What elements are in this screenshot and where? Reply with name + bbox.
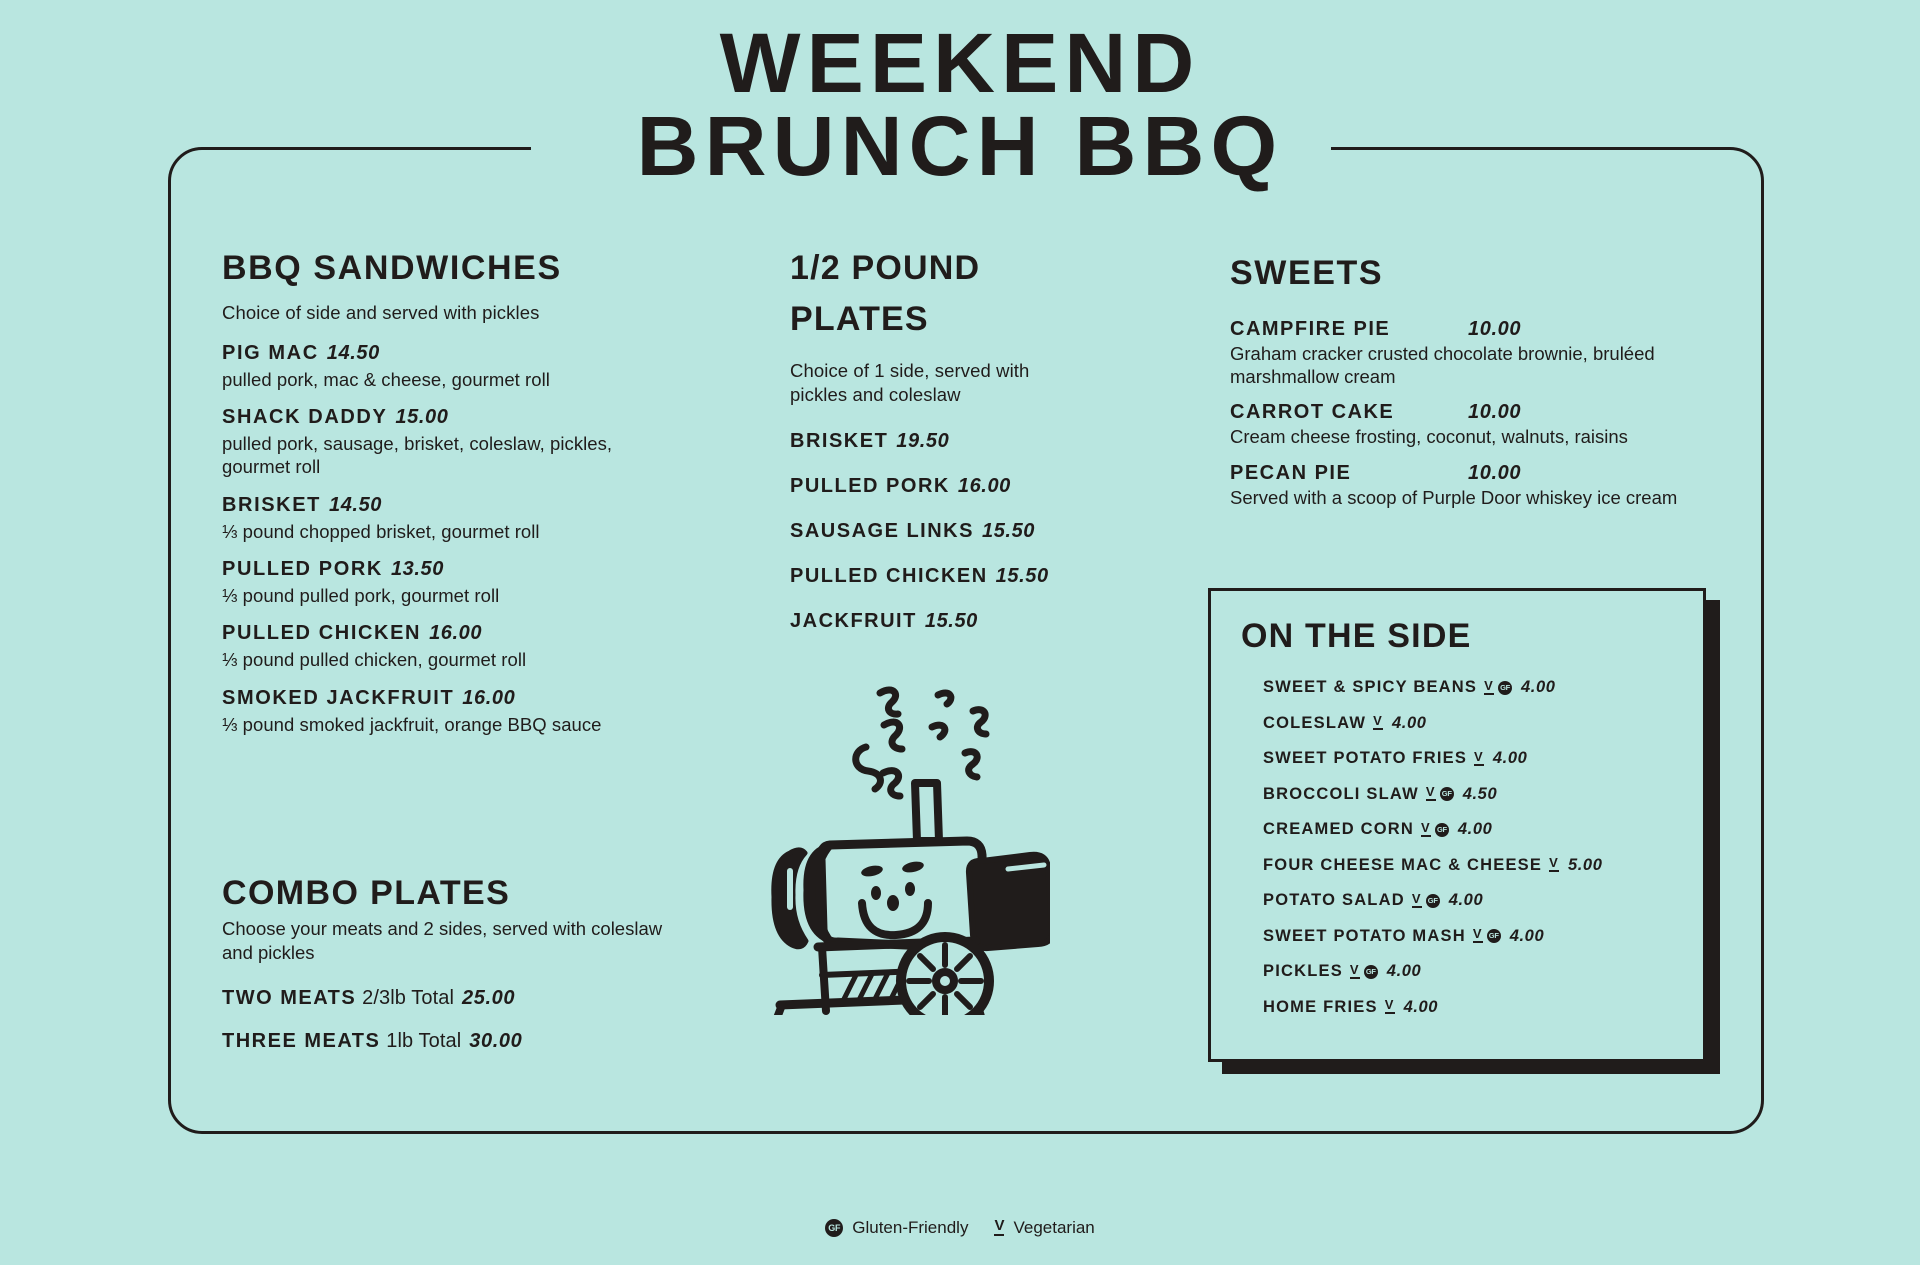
menu-item-name: PULLED PORK13.50 bbox=[222, 557, 682, 582]
menu-item: PULLED PORK13.50⅓ pound pulled pork, gou… bbox=[222, 557, 682, 607]
side-item-price: 4.00 bbox=[1449, 891, 1484, 910]
side-item-name: FOUR CHEESE MAC & CHEESE bbox=[1263, 856, 1542, 875]
side-item: FOUR CHEESE MAC & CHEESEV5.00 bbox=[1263, 856, 1703, 875]
side-item-name: BROCCOLI SLAW bbox=[1263, 785, 1419, 804]
chimney bbox=[915, 783, 939, 841]
sweets-heading: SWEETS bbox=[1230, 255, 1750, 292]
menu-item-name: SMOKED JACKFRUIT16.00 bbox=[222, 686, 682, 711]
sides-heading: ON THE SIDE bbox=[1241, 617, 1703, 656]
side-item: SWEET POTATO MASHVGF4.00 bbox=[1263, 927, 1703, 946]
legend-vegetarian: V Vegetarian bbox=[994, 1218, 1094, 1238]
sweets-list: CAMPFIRE PIE10.00Graham cracker crusted … bbox=[1230, 318, 1750, 509]
side-item-tags: V bbox=[1474, 751, 1484, 767]
menu-item-price: 25.00 bbox=[462, 987, 515, 1009]
section-half-pound-plates: 1/2 POUND PLATES Choice of 1 side, serve… bbox=[790, 250, 1090, 655]
plates-list: BRISKET19.50PULLED PORK16.00SAUSAGE LINK… bbox=[790, 430, 1090, 633]
menu-item-price: 16.00 bbox=[429, 622, 482, 644]
menu-item: JACKFRUIT15.50 bbox=[790, 610, 1090, 633]
menu-item-description: Cream cheese frosting, coconut, walnuts,… bbox=[1230, 425, 1730, 448]
side-item-name: SWEET POTATO MASH bbox=[1263, 927, 1466, 946]
sandwiches-list: PIG MAC14.50pulled pork, mac & cheese, g… bbox=[222, 341, 682, 736]
menu-item-description: pulled pork, sausage, brisket, coleslaw,… bbox=[222, 432, 682, 479]
side-item-price: 5.00 bbox=[1568, 856, 1603, 875]
combo-heading: COMBO PLATES bbox=[222, 874, 692, 913]
vegetarian-icon: V bbox=[1426, 785, 1436, 801]
menu-item-description: ⅓ pound pulled pork, gourmet roll bbox=[222, 584, 682, 607]
menu-item-price: 13.50 bbox=[391, 558, 444, 580]
side-item: POTATO SALADVGF4.00 bbox=[1263, 891, 1703, 910]
legend-vegetarian-label: Vegetarian bbox=[1013, 1218, 1094, 1238]
side-item-tags: V bbox=[1373, 715, 1383, 731]
section-bbq-sandwiches: BBQ SANDWICHES Choice of side and served… bbox=[222, 250, 682, 750]
vegetarian-icon: V bbox=[1350, 963, 1360, 979]
menu-item: CAMPFIRE PIE10.00Graham cracker crusted … bbox=[1230, 318, 1750, 389]
side-item-tags: VGF bbox=[1473, 928, 1501, 944]
side-item-price: 4.50 bbox=[1463, 785, 1498, 804]
menu-item-name: BRISKET14.50 bbox=[222, 493, 682, 518]
side-item-tags: VGF bbox=[1421, 822, 1449, 838]
menu-item: PULLED PORK16.00 bbox=[790, 475, 1090, 498]
menu-item-description: Graham cracker crusted chocolate brownie… bbox=[1230, 342, 1730, 389]
menu-item-price: 14.50 bbox=[329, 494, 382, 516]
side-item-name: SWEET & SPICY BEANS bbox=[1263, 678, 1477, 697]
menu-item: BRISKET19.50 bbox=[790, 430, 1090, 453]
side-item-tags: VGF bbox=[1350, 964, 1378, 980]
menu-item: BRISKET14.50⅓ pound chopped brisket, gou… bbox=[222, 493, 682, 543]
menu-item-price: 14.50 bbox=[327, 342, 380, 364]
menu-item: SAUSAGE LINKS15.50 bbox=[790, 520, 1090, 543]
side-item: HOME FRIESV4.00 bbox=[1263, 998, 1703, 1017]
menu-item-name-row: CAMPFIRE PIE10.00 bbox=[1230, 318, 1750, 341]
menu-item: CARROT CAKE10.00Cream cheese frosting, c… bbox=[1230, 401, 1750, 448]
menu-item: SHACK DADDY15.00pulled pork, sausage, br… bbox=[222, 405, 682, 479]
menu-item-price: 15.50 bbox=[925, 610, 978, 632]
vegetarian-icon: V bbox=[1549, 856, 1559, 872]
menu-item-price: 15.50 bbox=[996, 565, 1049, 587]
vegetarian-icon: V bbox=[1385, 998, 1395, 1014]
menu-item-price: 10.00 bbox=[1468, 401, 1521, 424]
side-item-tags: VGF bbox=[1426, 786, 1454, 802]
side-item: COLESLAWV4.00 bbox=[1263, 714, 1703, 733]
gluten-friendly-icon: GF bbox=[825, 1219, 843, 1237]
side-item: PICKLESVGF4.00 bbox=[1263, 962, 1703, 981]
side-item-name: SWEET POTATO FRIES bbox=[1263, 749, 1467, 768]
vegetarian-icon: V bbox=[1473, 927, 1483, 943]
menu-item-price: 10.00 bbox=[1468, 462, 1521, 485]
vegetarian-icon: V bbox=[1412, 892, 1422, 908]
menu-item-name: PECAN PIE bbox=[1230, 462, 1460, 485]
menu-item-name: PULLED CHICKEN16.00 bbox=[222, 621, 682, 646]
side-item-price: 4.00 bbox=[1458, 820, 1493, 839]
plates-note: Choice of 1 side, served with pickles an… bbox=[790, 359, 1090, 407]
vegetarian-icon: V bbox=[1373, 714, 1383, 730]
menu-item-name: TWO MEATS bbox=[222, 987, 356, 1009]
menu-item-price: 15.50 bbox=[982, 520, 1035, 542]
side-item: BROCCOLI SLAWVGF4.50 bbox=[1263, 785, 1703, 804]
side-item-name: PICKLES bbox=[1263, 962, 1343, 981]
menu-item: PULLED CHICKEN16.00⅓ pound pulled chicke… bbox=[222, 621, 682, 671]
plates-heading-line-1: 1/2 POUND bbox=[790, 250, 1090, 287]
menu-item-name: CAMPFIRE PIE bbox=[1230, 318, 1460, 341]
plates-heading-line-2: PLATES bbox=[790, 301, 1090, 338]
menu-item-description: Served with a scoop of Purple Door whisk… bbox=[1230, 486, 1730, 509]
title-line-1: WEEKEND bbox=[0, 22, 1920, 105]
menu-item: THREE MEATS 1lb Total30.00 bbox=[222, 1030, 692, 1053]
menu-item-name: SHACK DADDY15.00 bbox=[222, 405, 682, 430]
combo-note: Choose your meats and 2 sides, served wi… bbox=[222, 917, 692, 965]
side-item: CREAMED CORNVGF4.00 bbox=[1263, 820, 1703, 839]
vegetarian-icon: V bbox=[1474, 750, 1484, 766]
side-item-name: POTATO SALAD bbox=[1263, 891, 1405, 910]
side-item-name: CREAMED CORN bbox=[1263, 820, 1414, 839]
gluten-friendly-icon: GF bbox=[1487, 929, 1501, 943]
menu-item-description: pulled pork, mac & cheese, gourmet roll bbox=[222, 368, 682, 391]
menu-item-name: PIG MAC14.50 bbox=[222, 341, 682, 366]
menu-item: PULLED CHICKEN15.50 bbox=[790, 565, 1090, 588]
side-item-name: COLESLAW bbox=[1263, 714, 1366, 733]
side-item-tags: VGF bbox=[1484, 680, 1512, 696]
gluten-friendly-icon: GF bbox=[1435, 823, 1449, 837]
legend-gluten-friendly: GF Gluten-Friendly bbox=[825, 1218, 968, 1238]
menu-item-description: ⅓ pound smoked jackfruit, orange BBQ sau… bbox=[222, 713, 682, 736]
menu-item: SMOKED JACKFRUIT16.00⅓ pound smoked jack… bbox=[222, 686, 682, 736]
menu-item-price: 15.00 bbox=[395, 406, 448, 428]
side-item-price: 4.00 bbox=[1392, 714, 1427, 733]
side-item-tags: V bbox=[1385, 999, 1395, 1015]
menu-item-price: 16.00 bbox=[462, 687, 515, 709]
side-item-tags: VGF bbox=[1412, 893, 1440, 909]
gluten-friendly-icon: GF bbox=[1364, 965, 1378, 979]
vegetarian-icon: V bbox=[994, 1218, 1004, 1236]
menu-title: WEEKEND BRUNCH BBQ bbox=[0, 22, 1920, 188]
menu-item-name: CARROT CAKE bbox=[1230, 401, 1460, 424]
bbq-smoker-illustration bbox=[760, 655, 1050, 1015]
menu-item: PECAN PIE10.00Served with a scoop of Pur… bbox=[1230, 462, 1750, 509]
dietary-legend: GF Gluten-Friendly V Vegetarian bbox=[0, 1218, 1920, 1238]
menu-page: WEEKEND BRUNCH BBQ BBQ SANDWICHES Choice… bbox=[0, 0, 1920, 1265]
menu-item-quantity: 2/3lb Total bbox=[362, 987, 454, 1009]
side-item-name: HOME FRIES bbox=[1263, 998, 1378, 1017]
side-item-tags: V bbox=[1549, 857, 1559, 873]
menu-item-name: THREE MEATS bbox=[222, 1030, 380, 1052]
side-item-price: 4.00 bbox=[1510, 927, 1545, 946]
section-sweets: SWEETS CAMPFIRE PIE10.00Graham cracker c… bbox=[1230, 255, 1750, 522]
side-item-price: 4.00 bbox=[1521, 678, 1556, 697]
section-combo-plates: COMBO PLATES Choose your meats and 2 sid… bbox=[222, 874, 692, 1073]
menu-item-name-row: PECAN PIE10.00 bbox=[1230, 462, 1750, 485]
menu-item: PIG MAC14.50pulled pork, mac & cheese, g… bbox=[222, 341, 682, 391]
combo-list: TWO MEATS 2/3lb Total25.00THREE MEATS 1l… bbox=[222, 987, 692, 1053]
side-item-price: 4.00 bbox=[1387, 962, 1422, 981]
vegetarian-icon: V bbox=[1484, 679, 1494, 695]
menu-item-description: ⅓ pound chopped brisket, gourmet roll bbox=[222, 520, 682, 543]
side-item: SWEET POTATO FRIESV4.00 bbox=[1263, 749, 1703, 768]
menu-item-quantity: 1lb Total bbox=[386, 1030, 461, 1052]
section-on-the-side: ON THE SIDE SWEET & SPICY BEANSVGF4.00CO… bbox=[1208, 588, 1706, 1062]
menu-item-description: ⅓ pound pulled chicken, gourmet roll bbox=[222, 648, 682, 671]
menu-item-price: 30.00 bbox=[469, 1030, 522, 1052]
menu-item-price: 19.50 bbox=[896, 430, 949, 452]
sides-list: SWEET & SPICY BEANSVGF4.00COLESLAWV4.00S… bbox=[1241, 678, 1703, 1017]
side-item-price: 4.00 bbox=[1404, 998, 1439, 1017]
menu-item: TWO MEATS 2/3lb Total25.00 bbox=[222, 987, 692, 1010]
menu-item-name-row: CARROT CAKE10.00 bbox=[1230, 401, 1750, 424]
side-item: SWEET & SPICY BEANSVGF4.00 bbox=[1263, 678, 1703, 697]
gluten-friendly-icon: GF bbox=[1440, 787, 1454, 801]
side-item-price: 4.00 bbox=[1493, 749, 1528, 768]
gluten-friendly-icon: GF bbox=[1426, 894, 1440, 908]
title-line-2: BRUNCH BBQ bbox=[0, 105, 1920, 188]
gluten-friendly-icon: GF bbox=[1498, 681, 1512, 695]
legend-gluten-friendly-label: Gluten-Friendly bbox=[852, 1218, 968, 1238]
sandwiches-heading: BBQ SANDWICHES bbox=[222, 250, 682, 287]
vegetarian-icon: V bbox=[1421, 821, 1431, 837]
sandwiches-note: Choice of side and served with pickles bbox=[222, 301, 682, 325]
menu-item-price: 10.00 bbox=[1468, 318, 1521, 341]
menu-item-price: 16.00 bbox=[958, 475, 1011, 497]
